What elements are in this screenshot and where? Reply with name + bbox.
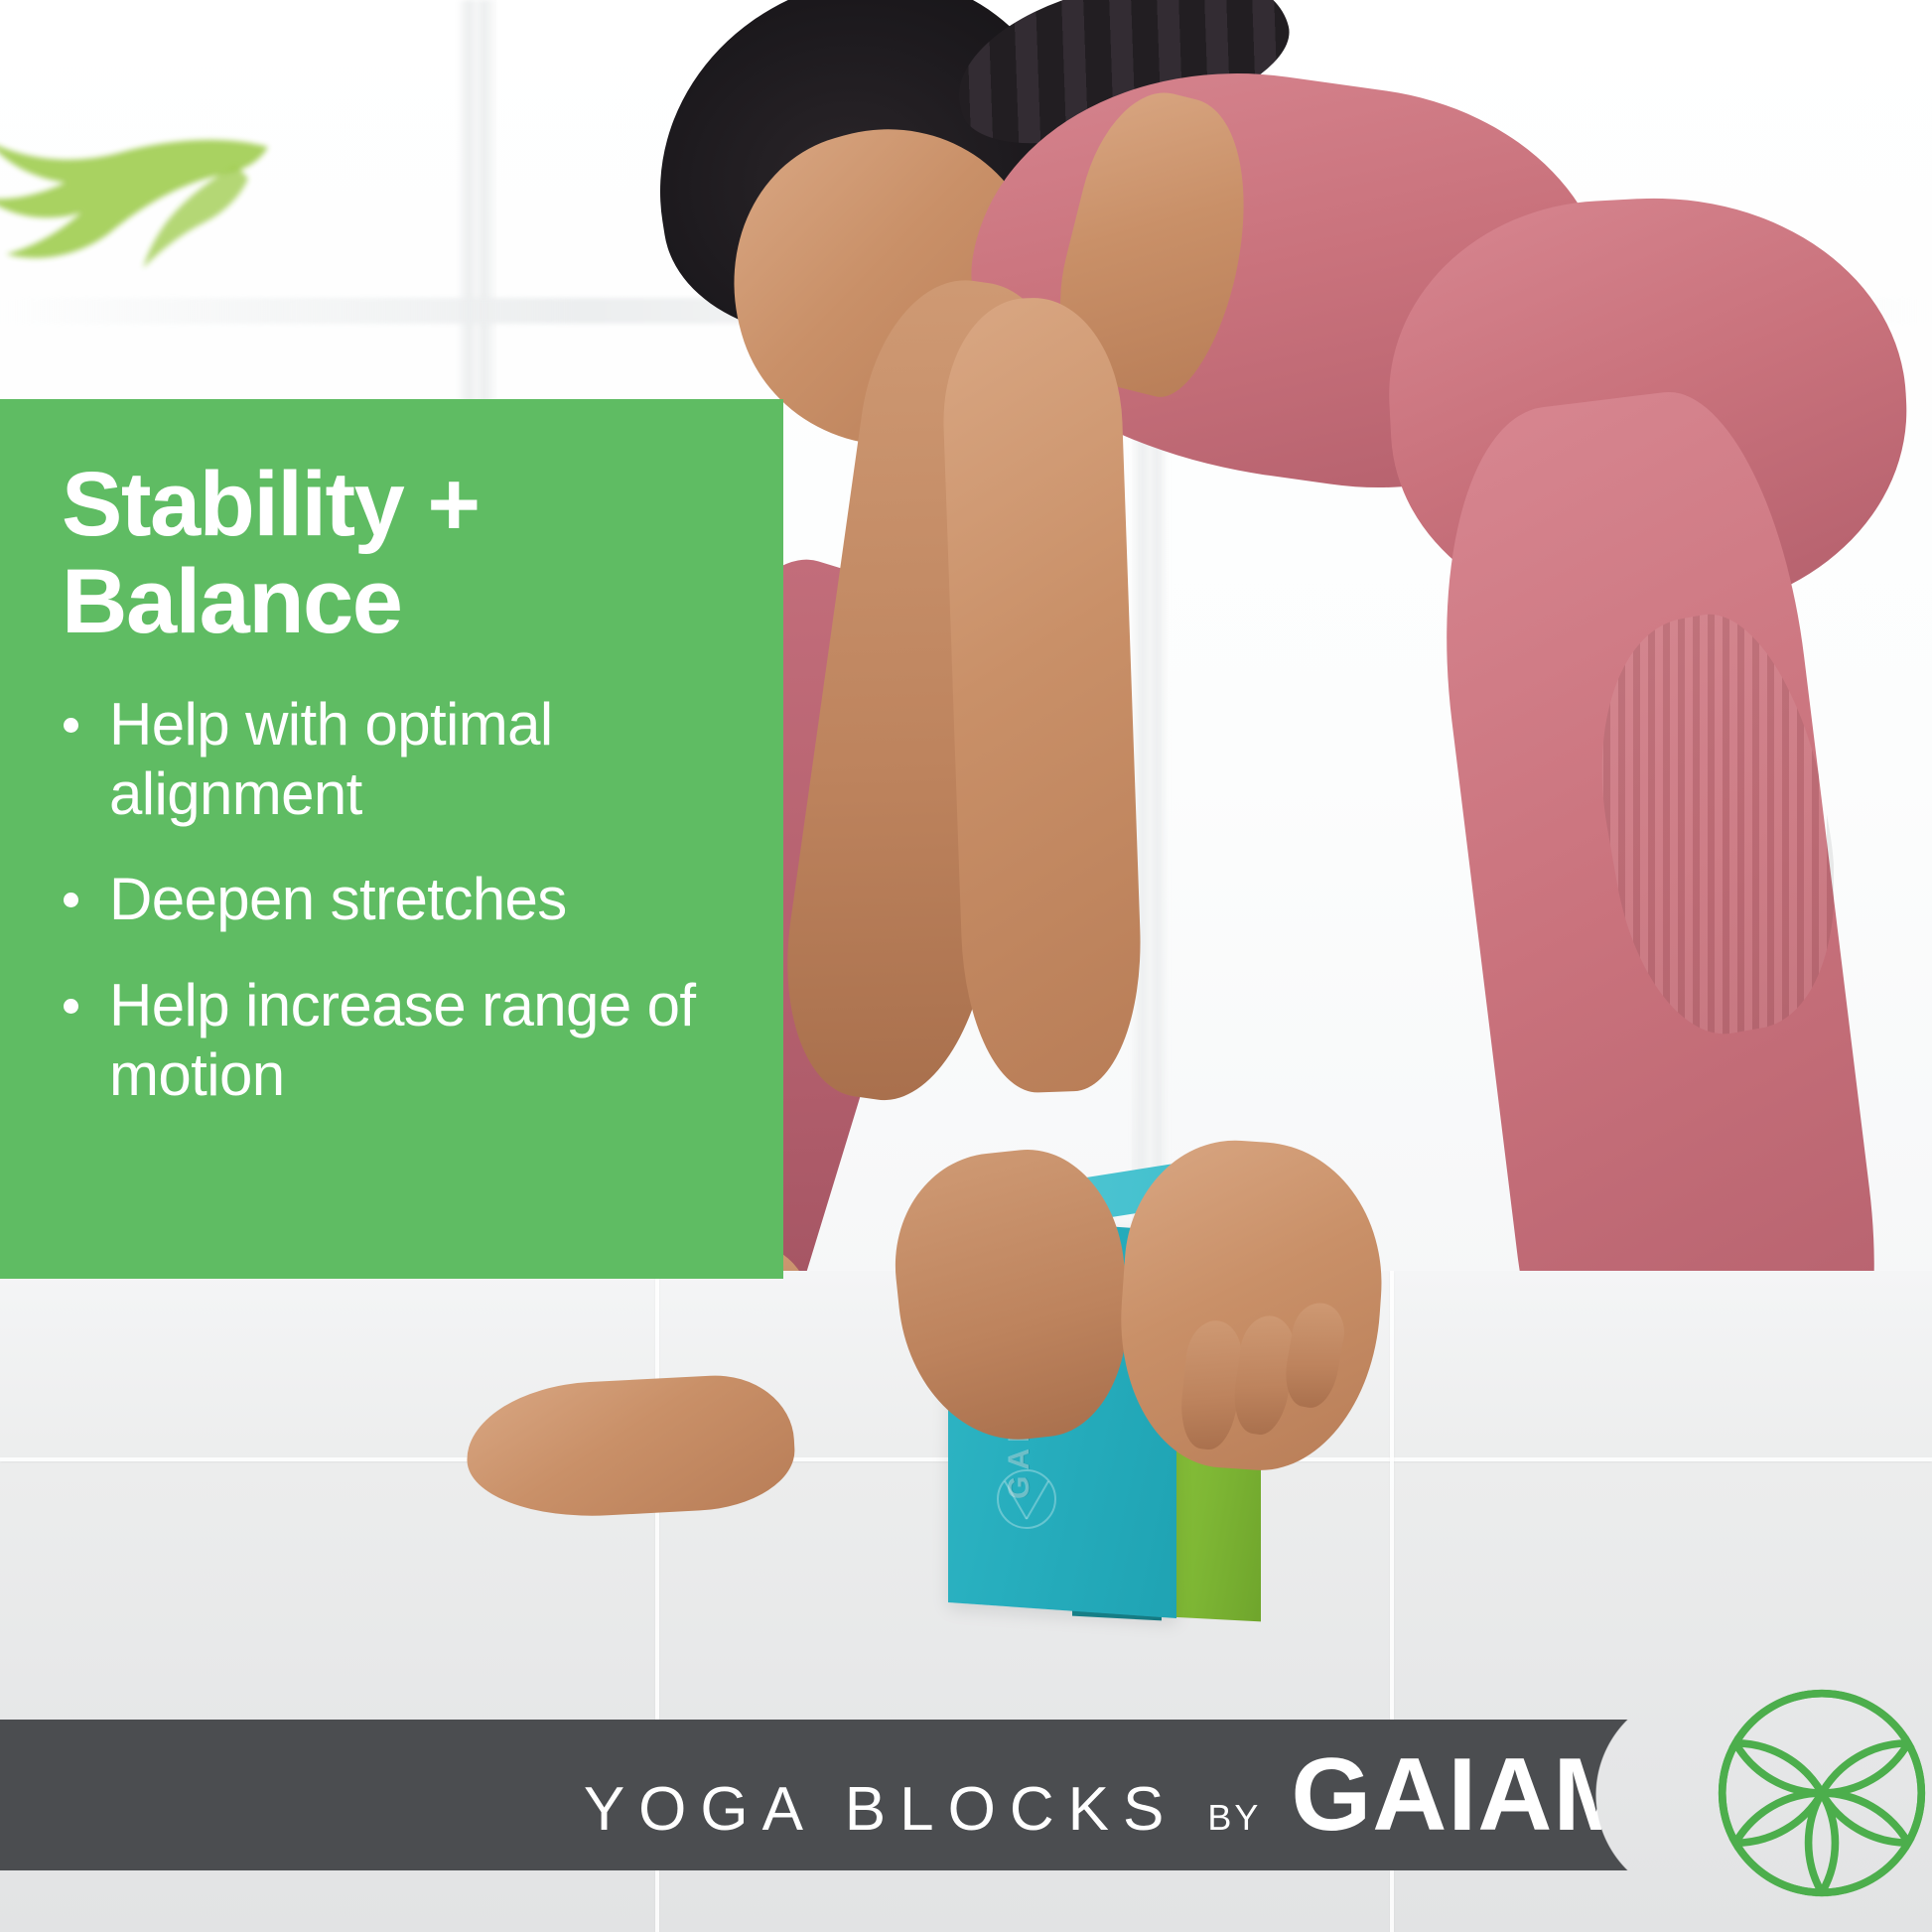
list-item: Help with optimal alignment [62,690,734,829]
list-item: Help increase range of motion [62,971,734,1110]
feature-panel: Stability + Balance Help with optimal al… [0,399,783,1279]
brand-name: GAIAM [1291,1737,1640,1853]
brand-wordmark: GAIAM ® [1291,1743,1640,1847]
block-embossed-gaiam-flower-icon [997,1469,1056,1529]
model-right-arm [939,295,1146,1095]
panel-title: Stability + Balance [62,457,734,650]
product-label: YOGA BLOCKS [584,1774,1178,1845]
gaiam-flower-logo-icon [1714,1685,1930,1901]
bullet-dot-icon [64,893,78,907]
brand-banner: YOGA BLOCKS BY GAIAM ® [0,1720,1731,1870]
fern-leaf-icon [0,69,268,298]
bullet-dot-icon [64,999,78,1014]
product-marketing-image: GAIAM Stability + Balance Help with opti… [0,0,1932,1932]
bullet-text: Help with optimal alignment [109,691,553,827]
registered-trademark-icon: ® [1651,1739,1670,1770]
by-label: BY [1207,1797,1261,1839]
brand-banner-content: YOGA BLOCKS BY GAIAM ® [584,1743,1640,1847]
bullet-text: Help increase range of motion [109,972,696,1108]
bullet-text: Deepen stretches [109,866,567,932]
list-item: Deepen stretches [62,865,734,934]
bullet-dot-icon [64,718,78,733]
feature-bullet-list: Help with optimal alignment Deepen stret… [62,690,734,1110]
